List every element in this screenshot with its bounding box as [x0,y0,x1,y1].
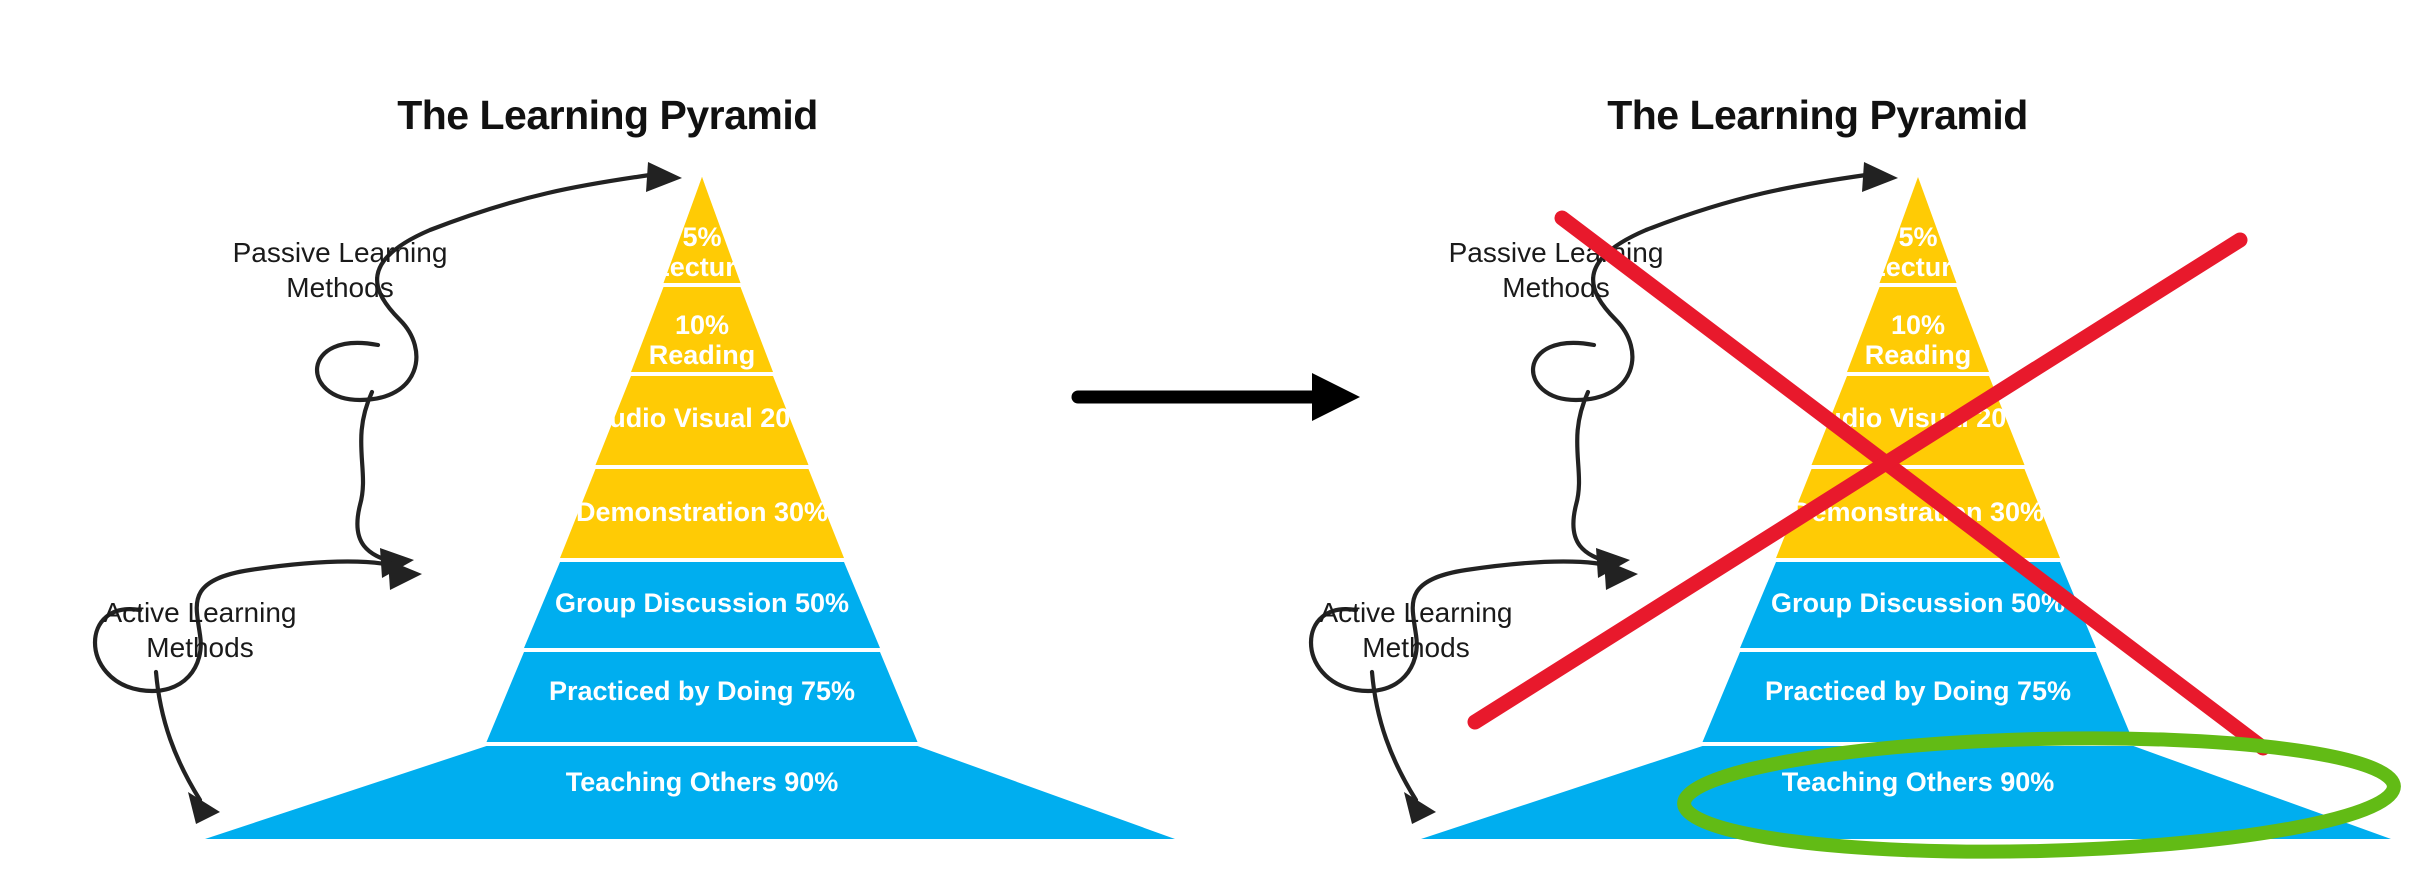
pyramid-svg-left [0,0,1215,893]
pyramid-layer-practiced-by-doing[interactable] [1703,652,2134,742]
pyramid-annotated: 5% Lecture 10% Reading Audio Visual 20% … [1216,0,2431,893]
pyramid-layer-group-discussion[interactable] [1740,562,2096,648]
callout-active-learning-right: Active Learning Methods [1266,596,1566,665]
pyramid-layer-lecture[interactable] [1880,177,1957,283]
pyramid-layer-practiced-by-doing[interactable] [487,652,918,742]
pyramid-layer-reading[interactable] [631,287,773,372]
diagram-canvas: The Learning Pyramid 5% Lecture 10% Read… [0,0,2431,893]
panel-annotated: The Learning Pyramid 5% Lecture 10% Read… [1216,0,2431,893]
pyramid-layer-lecture-slice[interactable] [664,177,741,283]
panel-original: The Learning Pyramid 5% Lecture 10% Read… [0,0,1215,893]
callout-passive-learning-left: Passive Learning Methods [190,236,490,305]
pyramid-layer-teaching-others[interactable] [1421,746,2391,839]
pyramid-layer-group-discussion[interactable] [524,562,880,648]
pyramid-layer-demonstration[interactable] [1776,469,2060,558]
pyramid-svg-right [1216,0,2431,893]
pyramid-layer-teaching-others[interactable] [205,746,1175,839]
callout-passive-learning-right: Passive Learning Methods [1406,236,1706,305]
pyramid-layer-demonstration[interactable] [560,469,844,558]
pyramid-layer-audio-visual[interactable] [596,376,809,465]
pyramid-layer-audio-visual[interactable] [1812,376,2025,465]
pyramid-original: 5% Lecture 10% Reading Audio Visual 20% … [0,0,1215,893]
pyramid-layer-reading[interactable] [1847,287,1989,372]
callout-active-learning-left: Active Learning Methods [50,596,350,665]
